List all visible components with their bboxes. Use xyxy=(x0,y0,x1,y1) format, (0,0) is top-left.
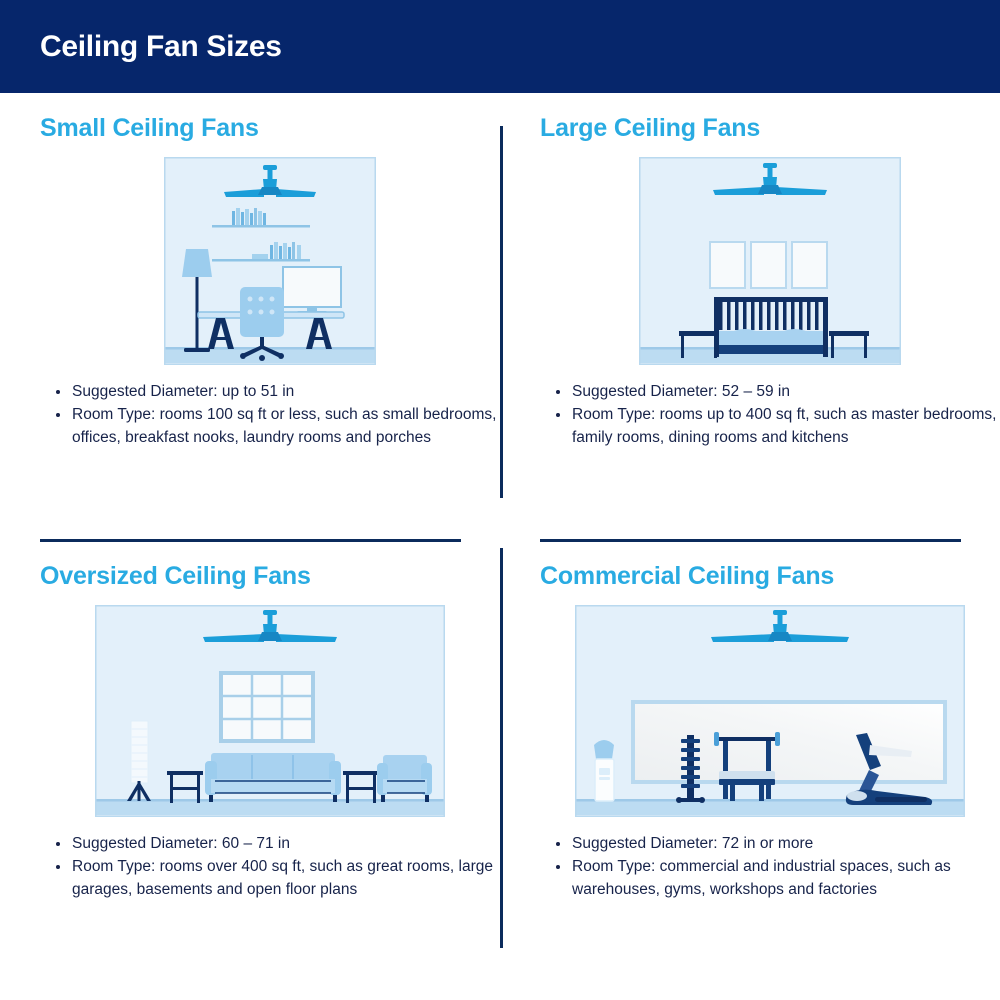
monitor-icon xyxy=(283,267,341,314)
gym-room-svg xyxy=(575,605,965,817)
section-large-ceiling-fans: Large Ceiling Fans xyxy=(540,115,1000,451)
living-room-svg xyxy=(95,605,445,817)
water-cooler-icon xyxy=(594,740,614,801)
vertical-divider-bottom xyxy=(500,548,503,948)
illustration-home-office xyxy=(40,157,500,365)
illustration-gym xyxy=(540,605,1000,817)
bullet-list-commercial: Suggested Diameter: 72 in or more Room T… xyxy=(540,833,1000,902)
list-item: Room Type: rooms over 400 sq ft, such as… xyxy=(54,856,500,902)
section-title-small: Small Ceiling Fans xyxy=(40,115,500,143)
section-small-ceiling-fans: Small Ceiling Fans xyxy=(40,115,500,451)
list-item: Room Type: rooms 100 sq ft or less, such… xyxy=(54,404,500,450)
window-icon xyxy=(221,673,313,741)
section-title-oversized: Oversized Ceiling Fans xyxy=(40,563,500,591)
wall-art-frames xyxy=(710,242,827,288)
bedroom-room-svg xyxy=(639,157,901,365)
bullet-list-large: Suggested Diameter: 52 – 59 in Room Type… xyxy=(540,381,1000,450)
illustration-living-room xyxy=(40,605,500,817)
list-item: Room Type: commercial and industrial spa… xyxy=(554,856,1000,902)
vertical-divider-top xyxy=(500,126,503,498)
page-header: Ceiling Fan Sizes xyxy=(0,0,1000,93)
list-item: Suggested Diameter: up to 51 in xyxy=(54,381,500,404)
horizontal-divider-left xyxy=(40,539,461,542)
illustration-bedroom xyxy=(540,157,1000,365)
infographic-page: Ceiling Fan Sizes Small Ceiling Fans xyxy=(0,0,1000,1000)
list-item: Room Type: rooms up to 400 sq ft, such a… xyxy=(554,404,1000,450)
bullet-list-oversized: Suggested Diameter: 60 – 71 in Room Type… xyxy=(40,833,500,902)
list-item: Suggested Diameter: 60 – 71 in xyxy=(54,833,500,856)
section-oversized-ceiling-fans: Oversized Ceiling Fans xyxy=(40,563,500,903)
home-office-room-svg xyxy=(164,157,376,365)
page-title: Ceiling Fan Sizes xyxy=(0,30,282,64)
sections-grid: Small Ceiling Fans xyxy=(0,93,1000,1000)
bullet-list-small: Suggested Diameter: up to 51 in Room Typ… xyxy=(40,381,500,450)
section-title-commercial: Commercial Ceiling Fans xyxy=(540,563,1000,591)
section-title-large: Large Ceiling Fans xyxy=(540,115,1000,143)
list-item: Suggested Diameter: 72 in or more xyxy=(554,833,1000,856)
section-commercial-ceiling-fans: Commercial Ceiling Fans xyxy=(540,563,1000,903)
list-item: Suggested Diameter: 52 – 59 in xyxy=(554,381,1000,404)
wall-mirror-panel xyxy=(633,702,945,782)
horizontal-divider-right xyxy=(540,539,961,542)
